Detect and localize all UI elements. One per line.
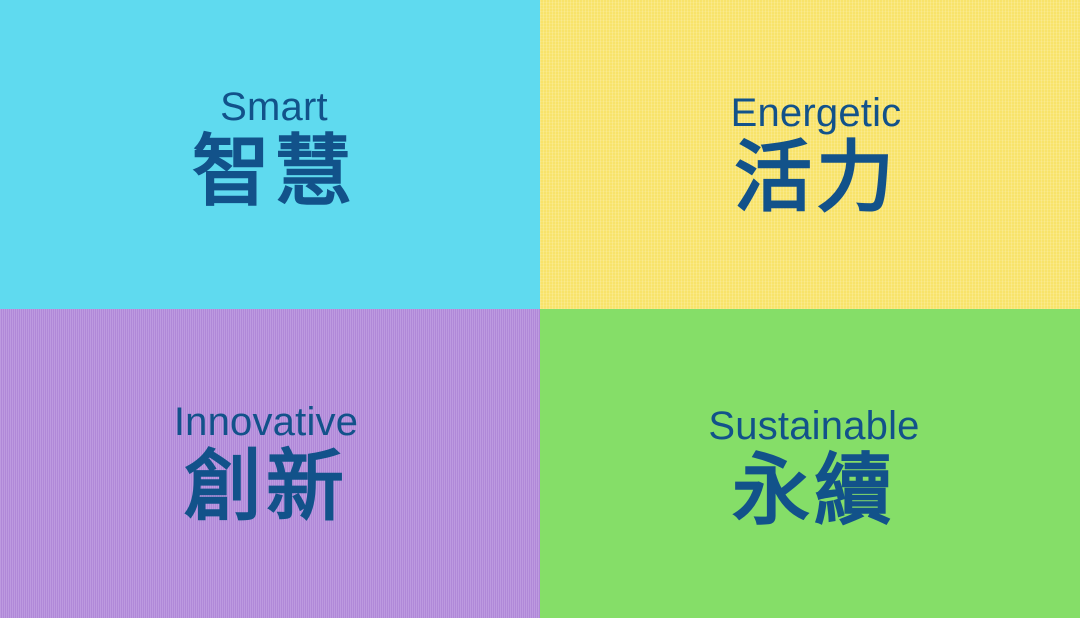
label-en-smart: Smart xyxy=(220,87,328,127)
label-en-energetic: Energetic xyxy=(731,93,902,133)
label-stack-smart: Smart 智慧 xyxy=(192,87,356,211)
label-cjk-sustainable: 永續 xyxy=(732,452,896,530)
quadrant-smart: Smart 智慧 xyxy=(0,0,540,309)
label-cjk-innovative: 創新 xyxy=(184,448,348,526)
quadrant-energetic: Energetic 活力 xyxy=(540,0,1080,309)
label-cjk-smart: 智慧 xyxy=(192,133,356,211)
label-stack-innovative: Innovative 創新 xyxy=(174,402,358,526)
label-stack-sustainable: Sustainable 永續 xyxy=(708,406,919,530)
quadrant-sustainable: Sustainable 永續 xyxy=(540,309,1080,618)
values-grid: Smart 智慧 Energetic 活力 Innovative 創新 Sust… xyxy=(0,0,1080,618)
label-stack-energetic: Energetic 活力 xyxy=(731,93,902,217)
label-en-innovative: Innovative xyxy=(174,402,358,442)
quadrant-innovative: Innovative 創新 xyxy=(0,309,540,618)
label-cjk-energetic: 活力 xyxy=(734,139,898,217)
label-en-sustainable: Sustainable xyxy=(708,406,919,446)
brand-values-board: Smart 智慧 Energetic 活力 Innovative 創新 Sust… xyxy=(0,0,1080,618)
